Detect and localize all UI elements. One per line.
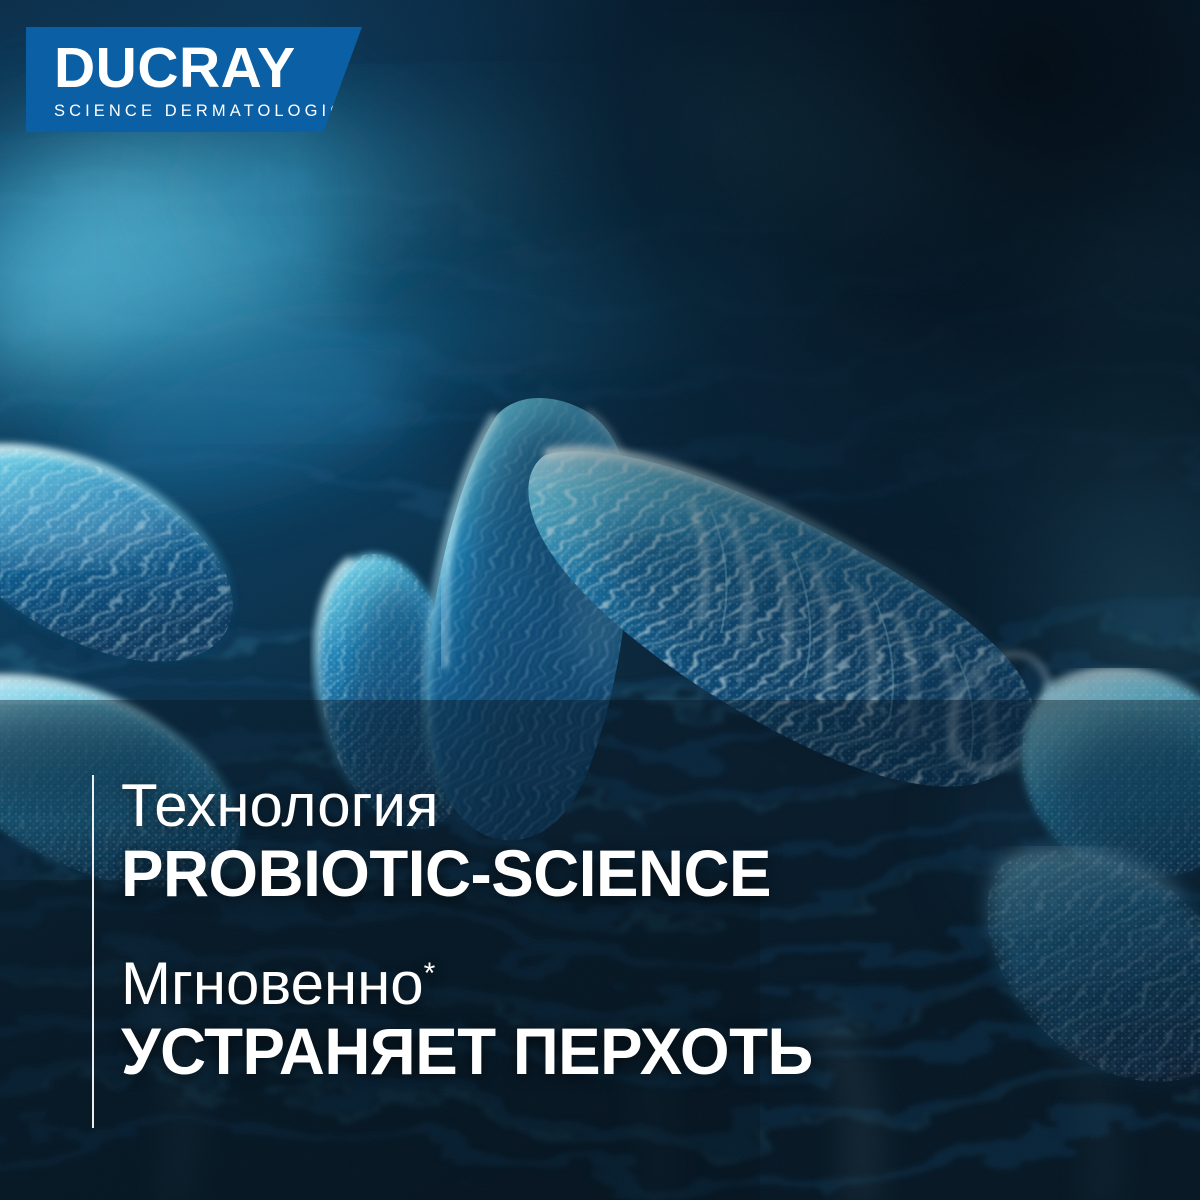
- claim-eyebrow-technology: Технология: [121, 775, 838, 837]
- claim-headline-removes-dandruff: УСТРАНЯЕТ ПЕРХОТЬ: [121, 1015, 813, 1087]
- promo-poster: DUCRAY SCIENCE DERMATOLOGIQUE Технология…: [0, 0, 1200, 1200]
- footnote-asterisk: *: [424, 957, 436, 990]
- claim-probiotic-science: Технология PROBIOTIC-SCIENCE: [121, 775, 838, 909]
- claims-block: Технология PROBIOTIC-SCIENCE Мгновенно* …: [92, 775, 838, 1128]
- claim-eyebrow-text: Мгновенно: [121, 950, 424, 1017]
- claim-removes-dandruff: Мгновенно* УСТРАНЯЕТ ПЕРХОТЬ: [121, 953, 838, 1087]
- claim-headline-probiotic-science: PROBIOTIC-SCIENCE: [121, 837, 813, 909]
- claim-eyebrow-text: Технология: [121, 772, 438, 839]
- ducray-logo[interactable]: DUCRAY SCIENCE DERMATOLOGIQUE: [26, 27, 362, 132]
- logo-tagline: SCIENCE DERMATOLOGIQUE: [54, 101, 362, 121]
- logo-wordmark: DUCRAY: [54, 37, 362, 99]
- claim-eyebrow-instantly: Мгновенно*: [121, 953, 838, 1015]
